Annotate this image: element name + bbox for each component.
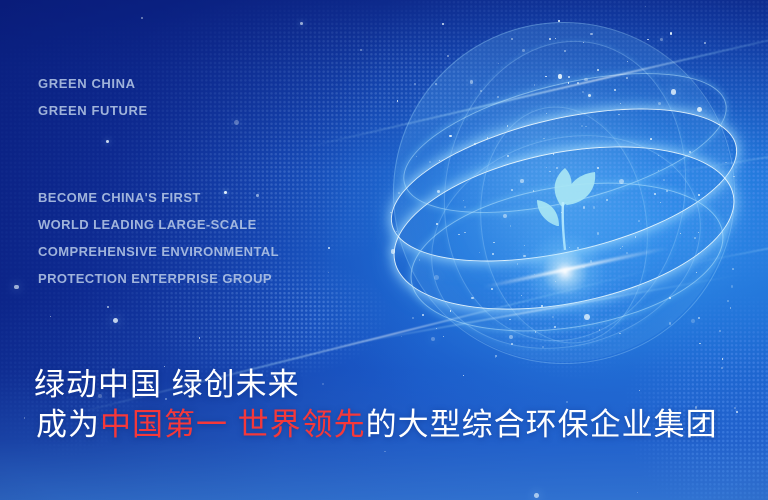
- vision-statement-block: BECOME CHINA'S FIRST WORLD LEADING LARGE…: [38, 184, 279, 292]
- headline-line-2: 成为中国第一 世界领先的大型综合环保企业集团: [36, 405, 718, 445]
- tagline-line-1: GREEN CHINA: [38, 70, 148, 97]
- vision-line-2: WORLD LEADING LARGE-SCALE: [38, 211, 279, 238]
- tagline-line-2: GREEN FUTURE: [38, 97, 148, 124]
- vision-line-1: BECOME CHINA'S FIRST: [38, 184, 279, 211]
- headline-block: 绿动中国 绿创未来 成为中国第一 世界领先的大型综合环保企业集团: [34, 365, 718, 445]
- vision-line-4: PROTECTION ENTERPRISE GROUP: [38, 265, 279, 292]
- tagline-block: GREEN CHINA GREEN FUTURE: [38, 70, 148, 124]
- hero-banner: GREEN CHINA GREEN FUTURE BECOME CHINA'S …: [0, 0, 768, 500]
- headline-suffix: 的大型综合环保企业集团: [366, 407, 718, 442]
- headline-prefix: 成为: [36, 407, 100, 442]
- headline-line-1: 绿动中国 绿创未来: [34, 365, 718, 405]
- vision-line-3: COMPREHENSIVE ENVIRONMENTAL: [38, 238, 279, 265]
- headline-highlight: 中国第一 世界领先: [100, 407, 366, 442]
